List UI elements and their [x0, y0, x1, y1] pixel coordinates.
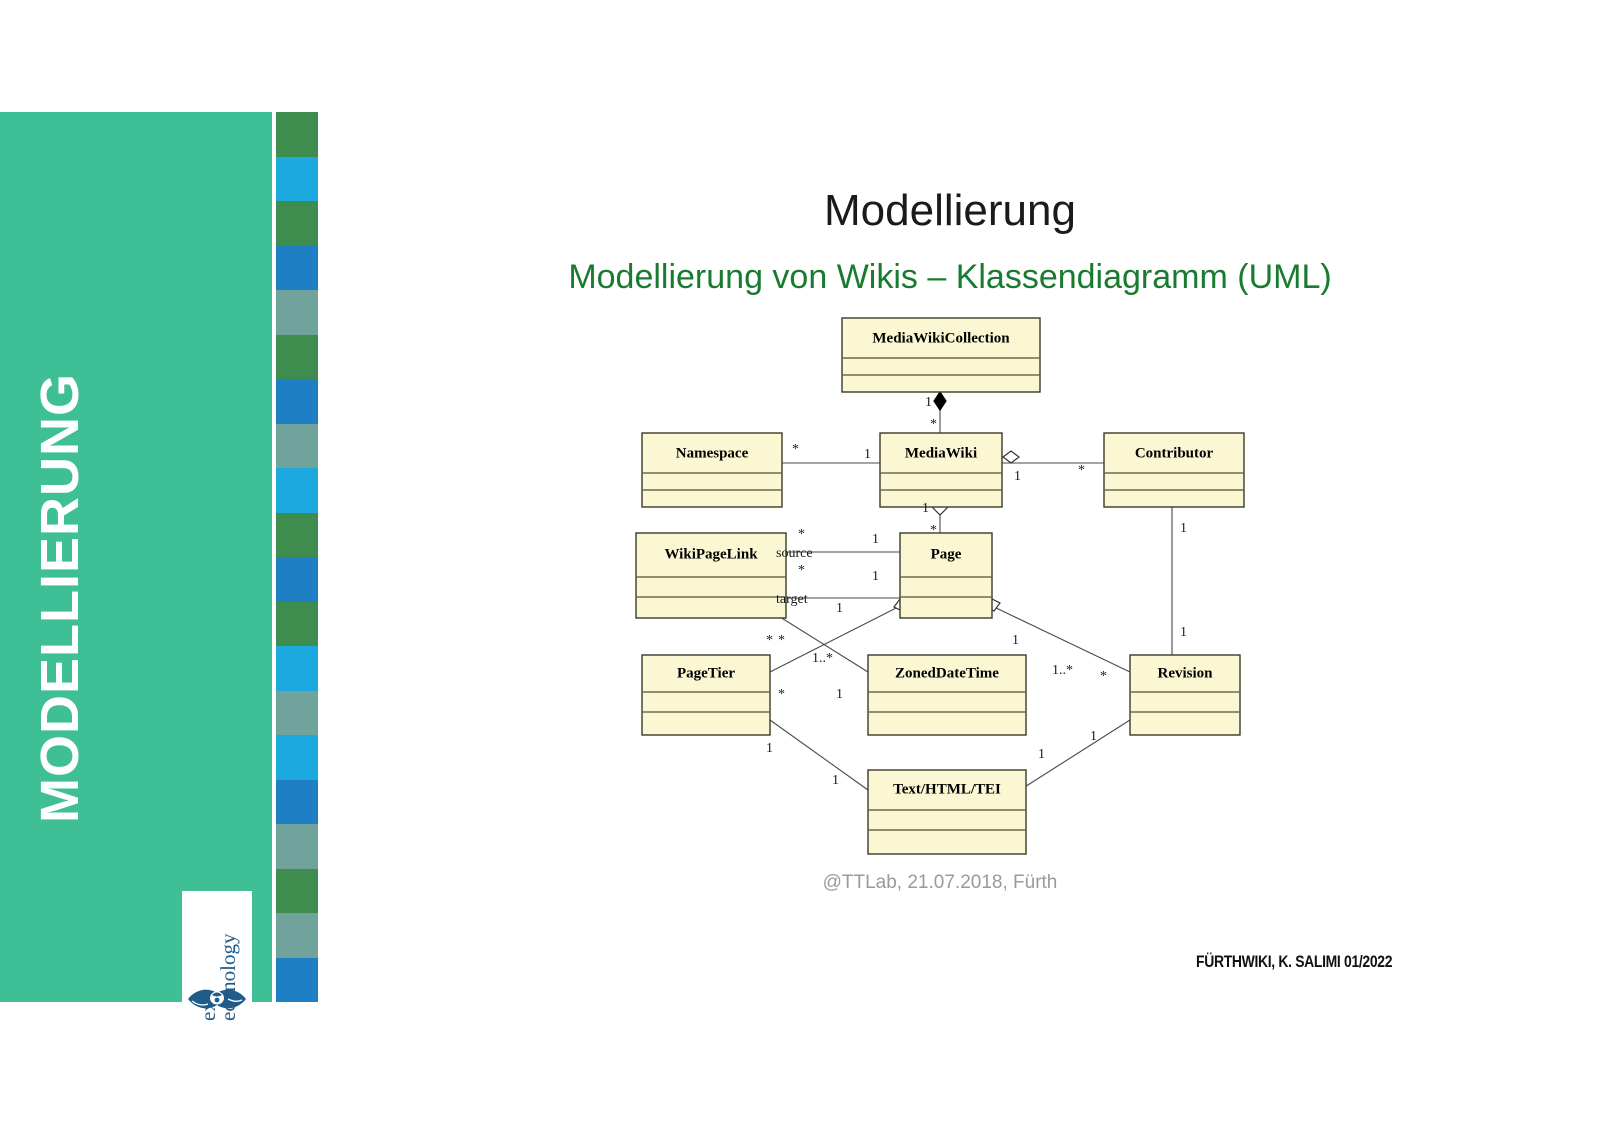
mult-collection-star: * [930, 417, 937, 432]
ttlab-logo: ext echnology [182, 891, 252, 1021]
class-box-namespace[interactable]: Namespace [642, 433, 782, 507]
sidebar-title: MODELLIERUNG [29, 218, 91, 978]
mult-namespace-star: * [792, 442, 799, 457]
class-box-zoneddatetime[interactable]: ZonedDateTime [868, 655, 1026, 735]
color-strip-block-7 [276, 424, 318, 469]
class-name: ZonedDateTime [895, 665, 999, 681]
class-name: MediaWikiCollection [872, 330, 1010, 346]
class-box-pagetier[interactable]: PageTier [642, 655, 770, 735]
aggregation-diamond-contributor [1003, 451, 1019, 463]
mult-target-1b: 1 [872, 569, 879, 584]
mult-contributor-star: * [1078, 463, 1085, 478]
role-label-source: source [776, 546, 813, 561]
mult-page-rev-1: 1 [1012, 633, 1019, 648]
mult-contributor-rev-top: 1 [1180, 521, 1187, 536]
mult-pagetier-zoned-star: * [778, 687, 785, 702]
color-strip-block-3 [276, 246, 318, 291]
color-strip-block-16 [276, 824, 318, 869]
mult-mediawiki-contrib-1: 1 [1014, 469, 1021, 484]
class-name: Contributor [1135, 445, 1214, 461]
color-strip-block-0 [276, 112, 318, 157]
class-name: Page [931, 546, 962, 562]
class-name: MediaWiki [905, 445, 977, 461]
page-title: Modellierung [330, 186, 1570, 236]
mult-zoned-1: 1 [836, 687, 843, 702]
color-strip-block-8 [276, 468, 318, 513]
mult-contributor-rev-bottom: 1 [1180, 625, 1187, 640]
uml-diagram-svg: MediaWikiCollection Namespace MediaWiki [600, 300, 1320, 880]
mult-pagetier-text-1: 1 [766, 741, 773, 756]
color-strip-block-14 [276, 735, 318, 780]
class-name: PageTier [677, 665, 735, 681]
mult-target-star: * [798, 563, 805, 578]
mult-collection-1: 1 [925, 395, 932, 410]
mult-pagetier-1n: 1..* [812, 651, 833, 666]
class-box-mediawikicollection[interactable]: MediaWikiCollection [842, 318, 1040, 392]
color-strip-block-9 [276, 513, 318, 558]
class-box-wikipagelink[interactable]: WikiPageLink [636, 533, 786, 618]
uml-class-diagram: MediaWikiCollection Namespace MediaWiki [600, 300, 1320, 880]
role-label-target: target [776, 592, 808, 607]
mult-mediawiki-ns-1: 1 [864, 447, 871, 462]
composition-diamond [934, 392, 946, 410]
mult-text-pagetier-1: 1 [832, 773, 839, 788]
ttlab-fish-emblem [186, 979, 248, 1017]
mult-target-1: 1 [836, 601, 843, 616]
class-box-mediawiki[interactable]: MediaWiki [880, 433, 1002, 507]
mult-source-star: * [798, 527, 805, 542]
mult-revision-1n: 1..* [1052, 663, 1073, 678]
class-name: Text/HTML/TEI [893, 781, 1001, 797]
color-strip-block-11 [276, 602, 318, 647]
color-strip-block-17 [276, 869, 318, 914]
color-strip-block-5 [276, 335, 318, 380]
slide-footer: FÜRTHWIKI, K. SALIMI 01/2022 [1196, 952, 1392, 972]
color-strip-block-2 [276, 201, 318, 246]
class-box-page[interactable]: Page [900, 533, 992, 618]
mult-revision-star: * [1100, 669, 1107, 684]
mult-pagetier-star-a: * [766, 633, 773, 648]
diagram-caption: @TTLab, 21.07.2018, Fürth [600, 872, 1280, 894]
class-box-contributor[interactable]: Contributor [1104, 433, 1244, 507]
mult-text-revision-1: 1 [1038, 747, 1045, 762]
color-strip-block-4 [276, 290, 318, 335]
color-strip-block-13 [276, 691, 318, 736]
slide-canvas: MODELLIERUNG ext echnology Modellierung … [0, 0, 1600, 1131]
color-strip-block-18 [276, 913, 318, 958]
color-strip [276, 112, 318, 1002]
class-box-texthtmltei[interactable]: Text/HTML/TEI [868, 770, 1026, 854]
color-strip-block-15 [276, 780, 318, 825]
class-name: Namespace [676, 445, 749, 461]
mult-source-1: 1 [872, 532, 879, 547]
color-strip-block-12 [276, 646, 318, 691]
class-name: WikiPageLink [664, 546, 758, 562]
page-subtitle: Modellierung von Wikis – Klassendiagramm… [330, 258, 1570, 297]
mult-pagetier-star-b: * [778, 633, 785, 648]
class-box-revision[interactable]: Revision [1130, 655, 1240, 735]
mult-mediawiki-page-1: 1 [922, 501, 929, 516]
sidebar: MODELLIERUNG ext echnology [0, 112, 272, 1002]
color-strip-block-10 [276, 557, 318, 602]
class-name: Revision [1157, 665, 1213, 681]
mult-revision-zoned-1: 1 [1090, 729, 1097, 744]
mult-page-star: * [930, 523, 937, 538]
color-strip-block-6 [276, 379, 318, 424]
color-strip-block-1 [276, 157, 318, 202]
color-strip-block-19 [276, 958, 318, 1003]
